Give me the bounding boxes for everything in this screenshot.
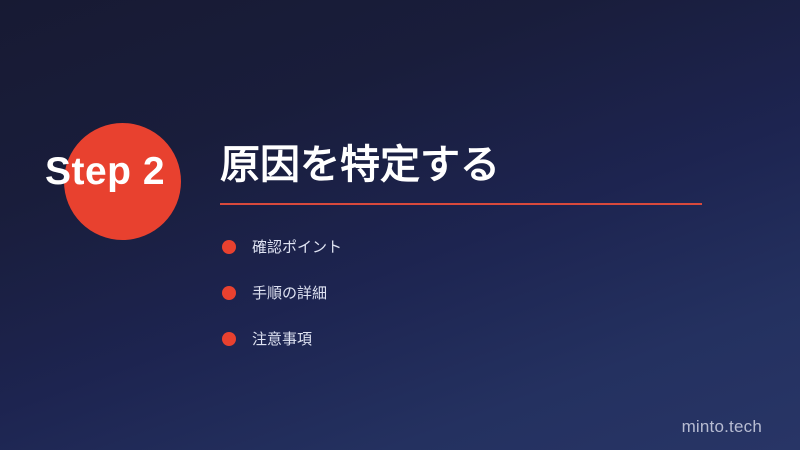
headline-block: 原因を特定する [220, 142, 720, 205]
step-badge: Step 2 [0, 116, 210, 246]
page-title: 原因を特定する [220, 142, 720, 188]
list-item: 確認ポイント [222, 239, 342, 255]
list-item-label: 注意事項 [252, 332, 312, 347]
bullet-list: 確認ポイント 手順の詳細 注意事項 [222, 239, 342, 347]
bullet-dot-icon [222, 240, 236, 254]
title-divider [220, 203, 702, 205]
bullet-dot-icon [222, 332, 236, 346]
list-item: 手順の詳細 [222, 285, 342, 301]
bullet-dot-icon [222, 286, 236, 300]
footer-brand: minto.tech [682, 417, 762, 437]
step-label: Step 2 [0, 152, 210, 191]
list-item-label: 確認ポイント [252, 240, 342, 255]
list-item: 注意事項 [222, 331, 342, 347]
slide-canvas: Step 2 原因を特定する 確認ポイント 手順の詳細 注意事項 minto.t… [0, 0, 800, 450]
list-item-label: 手順の詳細 [252, 286, 327, 301]
